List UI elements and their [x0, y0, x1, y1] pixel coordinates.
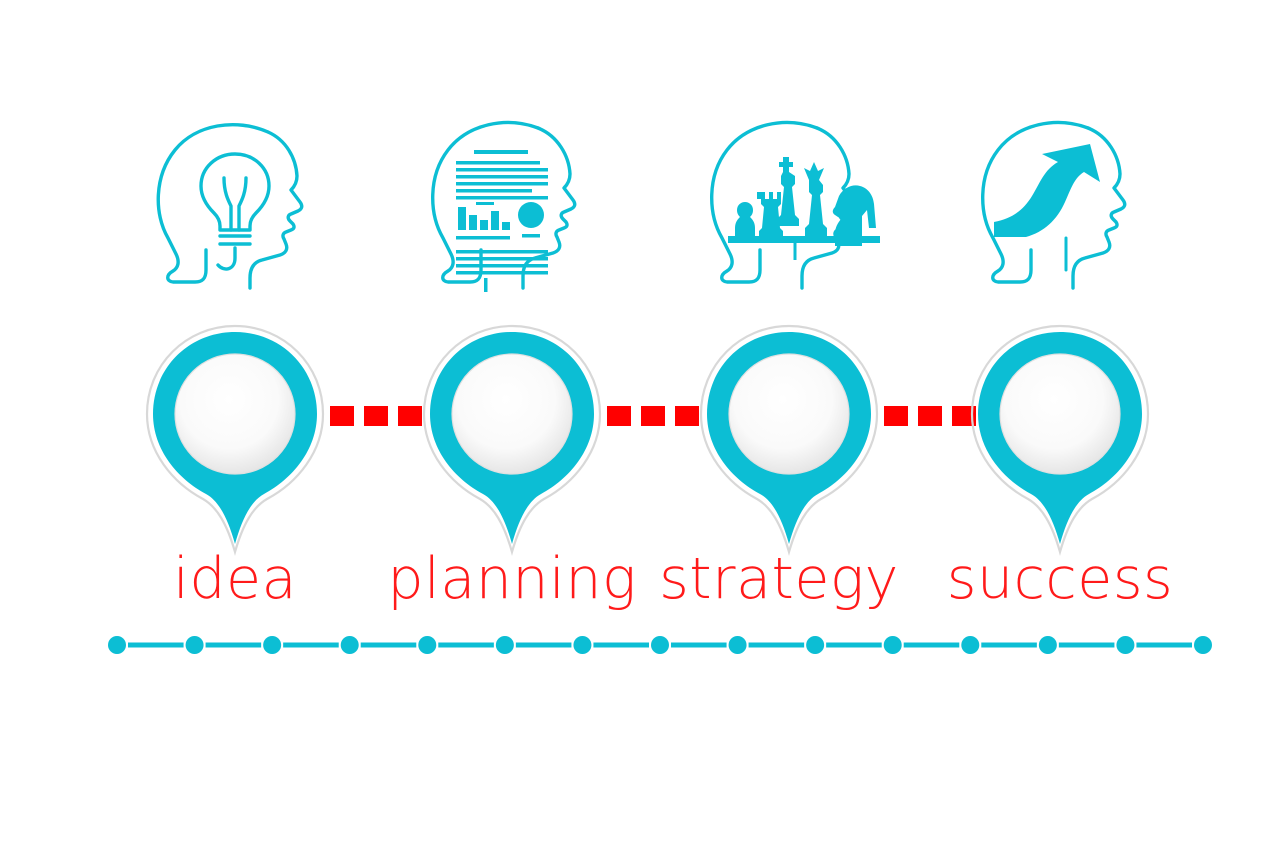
timeline-segment [516, 643, 572, 648]
timeline-segment [438, 643, 494, 648]
bottom-dotted-timeline [0, 630, 1280, 662]
timeline-segment [826, 643, 882, 648]
timeline-dot [961, 636, 979, 654]
head-growth-arrow-icon [966, 110, 1156, 300]
timeline-dot [1116, 636, 1134, 654]
timeline-dot [729, 636, 747, 654]
timeline-segment [981, 643, 1037, 648]
step-pin-idea[interactable] [135, 312, 335, 562]
timeline-segment [593, 643, 649, 648]
step-pin-success[interactable] [960, 312, 1160, 562]
timeline-dot [496, 636, 514, 654]
timeline-dot [806, 636, 824, 654]
timeline-segment [1136, 643, 1192, 648]
timeline-dot [573, 636, 591, 654]
head-chess-icon [695, 110, 885, 300]
step-labels: idea planning strategy success [0, 543, 1280, 618]
step-pin-strategy[interactable] [689, 312, 889, 562]
step-label-planning: planning [362, 543, 662, 615]
timeline-segment [1059, 643, 1115, 648]
timeline-segment [904, 643, 960, 648]
timeline-segment [361, 643, 417, 648]
pins-row [0, 312, 1280, 562]
step-label-success: success [910, 543, 1210, 615]
timeline-segment [128, 643, 184, 648]
timeline-segment [206, 643, 262, 648]
timeline-segment [283, 643, 339, 648]
head-lightbulb-icon [140, 110, 330, 300]
timeline-segment [671, 643, 727, 648]
timeline-dot [418, 636, 436, 654]
step-pin-planning[interactable] [412, 312, 612, 562]
timeline-dot [186, 636, 204, 654]
step-label-strategy: strategy [629, 543, 929, 615]
infographic-canvas: idea planning strategy success [0, 0, 1280, 853]
timeline-dot [884, 636, 902, 654]
timeline-dot [108, 636, 126, 654]
icon-row [0, 110, 1280, 300]
timeline-dot [1194, 636, 1212, 654]
timeline-segment [749, 643, 805, 648]
timeline-dot [651, 636, 669, 654]
step-label-idea: idea [85, 543, 385, 615]
timeline-dot [263, 636, 281, 654]
timeline-dot [341, 636, 359, 654]
timeline-dot [1039, 636, 1057, 654]
head-document-chart-icon [418, 110, 608, 300]
